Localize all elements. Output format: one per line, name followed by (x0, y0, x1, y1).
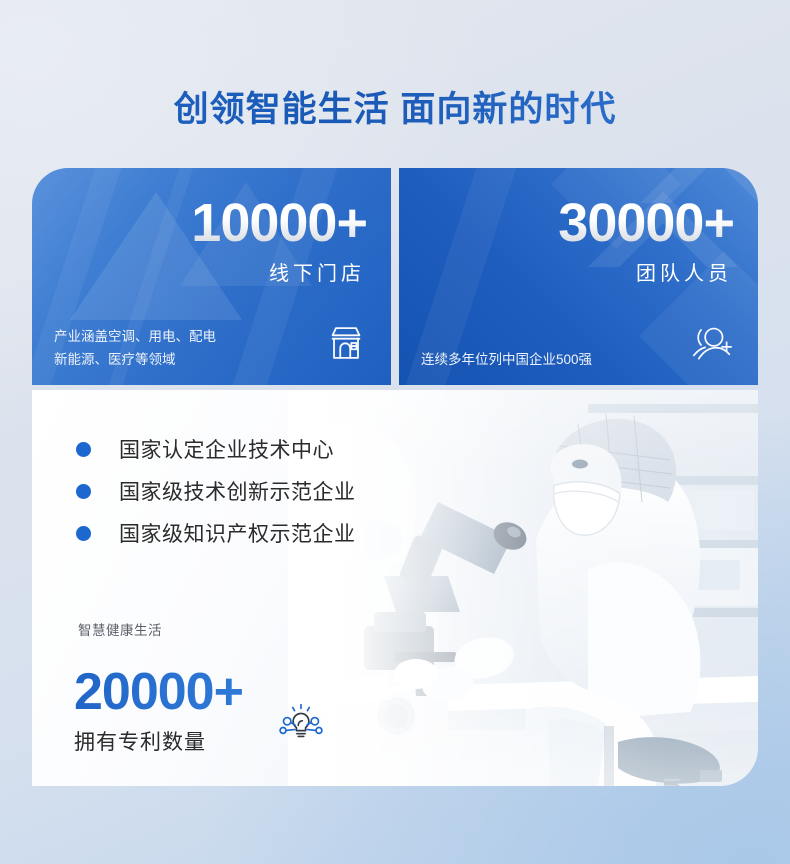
page-title-wrapper: 创领智能生活 面向新的时代 (0, 58, 790, 156)
list-item: 国家级知识产权示范企业 (76, 514, 356, 552)
credential-label: 国家认定企业技术中心 (119, 434, 334, 464)
stat-cards-row: 10000+ 线下门店 产业涵盖空调、用电、配电 新能源、医疗等领域 (32, 168, 758, 385)
patents-text-group: 20000+ 拥有专利数量 (74, 666, 243, 756)
credentials-panel: 国家认定企业技术中心 国家级技术创新示范企业 国家级知识产权示范企业 智慧健康生… (32, 390, 758, 786)
list-item: 国家级技术创新示范企业 (76, 472, 356, 510)
lightbulb-network-icon (277, 701, 325, 752)
credentials-list: 国家认定企业技术中心 国家级技术创新示范企业 国家级知识产权示范企业 (76, 430, 356, 556)
patents-label: 拥有专利数量 (74, 726, 243, 756)
storefront-icon (323, 320, 369, 371)
add-person-icon (688, 324, 736, 371)
patents-block: 20000+ 拥有专利数量 (74, 666, 734, 756)
stat-label: 团队人员 (399, 257, 734, 286)
credential-label: 国家级技术创新示范企业 (119, 476, 356, 506)
bullet-dot-icon (76, 484, 91, 499)
stat-description: 连续多年位列中国企业500强 (421, 349, 592, 371)
credential-label: 国家级知识产权示范企业 (119, 518, 356, 548)
stat-number: 30000+ (399, 196, 734, 251)
stat-card-team-members: 30000+ 团队人员 连续多年位列中国企业500强 (399, 168, 758, 385)
stat-description: 产业涵盖空调、用电、配电 新能源、医疗等领域 (54, 326, 216, 371)
bullet-dot-icon (76, 442, 91, 457)
stat-card-footer: 产业涵盖空调、用电、配电 新能源、医疗等领域 (54, 320, 369, 371)
patents-number: 20000+ (74, 666, 243, 718)
stat-card-heading: 10000+ 线下门店 (32, 168, 391, 286)
promo-banner-page: 创领智能生活 面向新的时代 10000+ 线下门店 产业涵盖空调、用电、配电 新… (0, 0, 790, 864)
list-item: 国家认定企业技术中心 (76, 430, 356, 468)
patents-sub-label: 智慧健康生活 (78, 619, 162, 639)
stat-card-heading: 30000+ 团队人员 (399, 168, 758, 286)
stat-label: 线下门店 (32, 257, 367, 286)
stat-number: 10000+ (32, 196, 367, 251)
stat-card-offline-stores: 10000+ 线下门店 产业涵盖空调、用电、配电 新能源、医疗等领域 (32, 168, 391, 385)
stat-card-footer: 连续多年位列中国企业500强 (421, 324, 736, 371)
bullet-dot-icon (76, 526, 91, 541)
page-title: 创领智能生活 面向新的时代 (174, 81, 617, 132)
